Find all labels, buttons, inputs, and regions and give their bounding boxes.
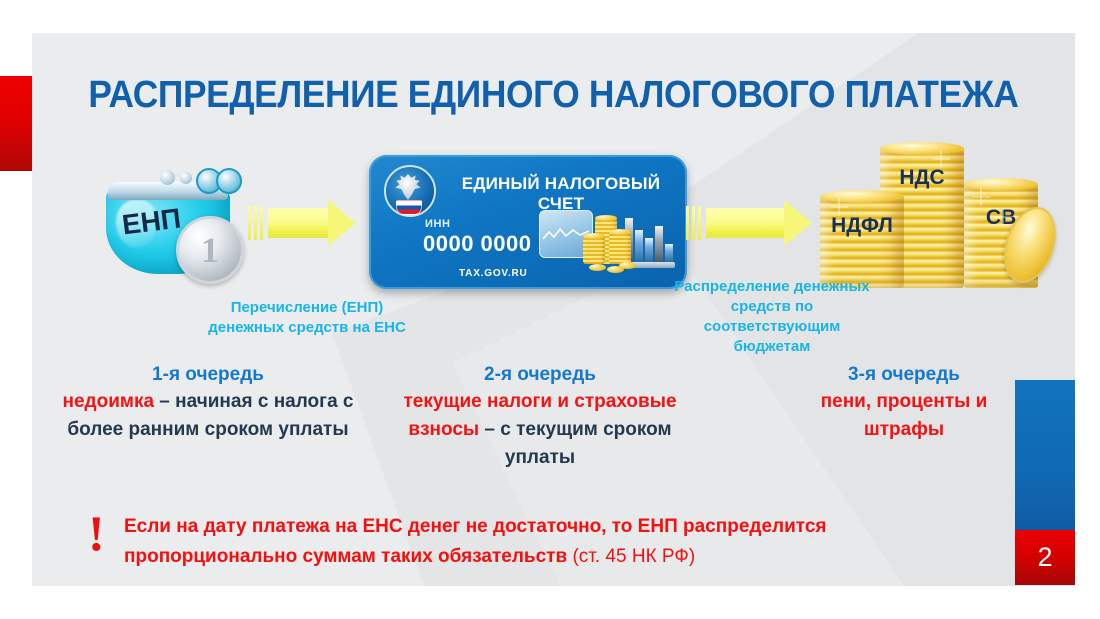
art-loose-coin — [589, 264, 606, 271]
left-red-accent-bar — [0, 76, 32, 171]
arrow-head — [784, 200, 812, 246]
arrow-tail-bar — [254, 206, 257, 240]
queue-3-heading: 3-я очередь — [796, 362, 1012, 388]
slide-root: РАСПРЕДЕЛЕНИЕ ЕДИНОГО НАЛОГОВОГО ПЛАТЕЖА… — [0, 0, 1100, 619]
queue-block-1: 1-я очередь недоимка – начиная с налога … — [62, 362, 354, 444]
arrow-tail-bar — [260, 206, 263, 240]
arrow-tail-bar — [698, 206, 701, 240]
silver-coin-icon: 1 — [176, 216, 244, 284]
art-coin-cap — [609, 229, 631, 235]
sparkle-icon — [830, 198, 848, 216]
queue-1-heading: 1-я очередь — [62, 362, 354, 388]
art-bar — [635, 230, 643, 262]
silver-coin-value: 1 — [179, 219, 241, 281]
queue-2-rest: – с текущим сроком уплаты — [479, 419, 671, 468]
tax-portal-url: TAX.GOV.RU — [459, 268, 528, 279]
card-finance-artwork — [539, 208, 675, 278]
art-bar — [655, 226, 663, 262]
inn-label: ИНН — [425, 218, 451, 230]
queue-block-2: 2-я очередь текущие налоги и страховые в… — [384, 362, 696, 472]
warning-text: Если на дату платежа на ЕНС денег не дос… — [124, 512, 854, 572]
caption-transfer: Перечисление (ЕНП) денежных средств на Е… — [196, 298, 418, 338]
queue-2-heading: 2-я очередь — [384, 362, 696, 388]
coin-stack-label-ndfl: НДФЛ — [820, 214, 904, 238]
sparkle-icon — [994, 208, 1012, 226]
arrow-shaft — [268, 208, 330, 238]
art-coin-stack — [609, 232, 631, 264]
art-coin-cap — [595, 215, 617, 221]
coin-stack-label-nds: НДС — [880, 166, 964, 190]
queue-1-body: недоимка – начиная с налога с более ранн… — [62, 388, 354, 444]
purse-top-coin — [216, 168, 242, 194]
right-blue-accent-bar — [1015, 380, 1075, 530]
warning-main: Если на дату платежа на ЕНС денег не дос… — [124, 516, 826, 567]
queue-3-body: пени, проценты и штрафы — [796, 388, 1012, 444]
arrow-card-to-stacks-icon — [686, 200, 814, 246]
coins-artwork — [583, 212, 635, 274]
art-coin-stack — [583, 236, 605, 264]
purse-knob — [160, 170, 175, 185]
coin-stack-ndfl: НДФЛ — [820, 196, 904, 288]
queue-block-3: 3-я очередь пени, проценты и штрафы — [796, 362, 1012, 444]
page-title: РАСПРЕДЕЛЕНИЕ ЕДИНОГО НАЛОГОВОГО ПЛАТЕЖА — [69, 74, 1039, 117]
page-number-badge: 2 — [1015, 530, 1075, 585]
warning-legal-reference: (ст. 45 НК РФ) — [572, 546, 695, 567]
fns-emblem-icon — [381, 164, 435, 220]
budget-coin-stacks: НДС СВ НДФЛ — [818, 136, 1048, 288]
queue-2-body: текущие налоги и страховые взносы – с те… — [384, 388, 696, 472]
sparkle-icon — [932, 150, 950, 168]
arrow-tail-bar — [248, 206, 251, 240]
arrow-head — [328, 200, 356, 246]
arrow-shaft — [706, 208, 786, 238]
queue-1-highlight: недоимка — [63, 391, 155, 412]
enp-purse-icon: ЕНП 1 — [100, 158, 250, 278]
arrow-tail-bar — [686, 206, 689, 240]
art-bar — [645, 238, 653, 262]
warning-exclamation-icon: ! — [88, 508, 105, 558]
art-coin-cap — [583, 233, 605, 239]
queue-3-highlight: пени, проценты и штрафы — [821, 391, 988, 440]
ens-account-card: ЕДИНЫЙ НАЛОГОВЫЙ СЧЕТ ИНН 0000 0000 0000… — [369, 155, 687, 289]
art-bar — [665, 244, 673, 262]
russian-flag-icon — [396, 200, 422, 215]
arrow-tail-bar — [692, 206, 695, 240]
arrow-purse-to-card-icon — [248, 200, 356, 246]
caption-distribution: Распределение денежных средств по соотве… — [672, 277, 872, 357]
art-loose-coin — [619, 262, 636, 269]
coin-stack-cap — [880, 142, 964, 155]
purse-knob — [180, 172, 192, 184]
sparkle-icon — [972, 188, 990, 206]
